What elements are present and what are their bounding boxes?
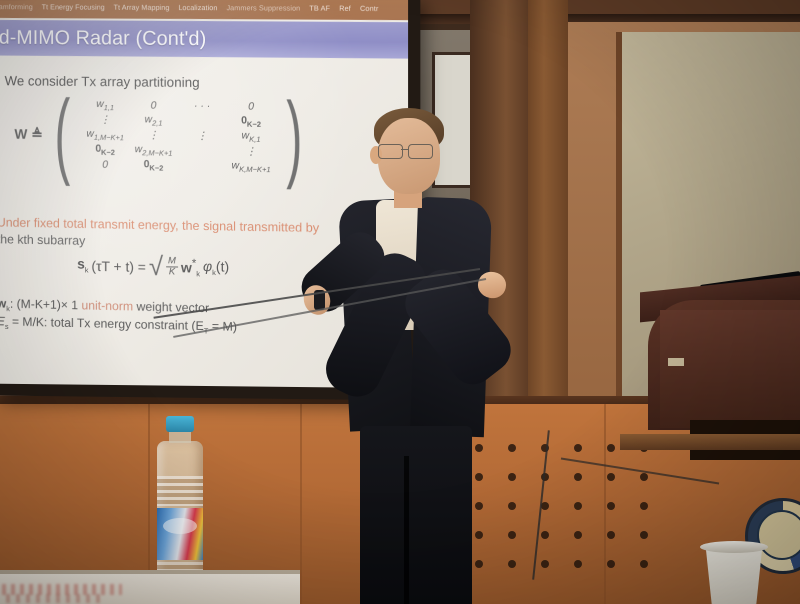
matrix-cell-8: w1,M−K+1 (86, 128, 124, 142)
eq-args: (τT + t) = (91, 258, 145, 275)
presenter (330, 100, 510, 604)
matrix-cell-2: · · · (194, 100, 210, 112)
bottle-cap (166, 416, 194, 432)
slide-title-band: d-MIMO Radar (Cont'd) (0, 20, 408, 59)
panel-perforation (541, 560, 549, 568)
matrix-cell-9: ⋮ (148, 130, 158, 142)
panel-perforation (574, 502, 582, 510)
panel-perforation (607, 560, 615, 568)
navbar-item-4[interactable]: Jammers Suppression (226, 3, 300, 12)
paper-cup (703, 545, 765, 604)
navbar-item-7[interactable]: Contr (360, 3, 378, 12)
panel-perforation (607, 444, 615, 452)
panel-perforation (640, 531, 648, 539)
navbar-item-2[interactable]: Tt Array Mapping (114, 2, 170, 11)
lecture-hall-photo: amformingTt Energy FocusingTt Array Mapp… (0, 0, 800, 604)
eq-fraction: M K (166, 257, 178, 278)
slide-title: d-MIMO Radar (Cont'd) (0, 26, 206, 50)
matrix-cell-1: 0 (151, 100, 157, 112)
navbar-item-0[interactable]: amforming (0, 2, 33, 11)
matrix-equation: W ≜ ( w1,10· · ·0⋮w2,10K−2w1,M−K+1⋮⋮wK,1… (14, 95, 310, 177)
bullet1-highlight: unit-norm (81, 298, 133, 313)
matrix-cell-12: 0K−2 (95, 143, 115, 157)
water-bottle (152, 416, 208, 594)
matrix-cell-16: 0 (102, 159, 108, 171)
panel-perforation (574, 560, 582, 568)
panel-perforation (541, 531, 549, 539)
wainscot-seam (300, 404, 302, 604)
signal-equation: sk (τT + t) = √ M K w*k φk(t) (77, 255, 229, 279)
blurred-red-text-2 (6, 594, 102, 603)
wall-shelf (620, 434, 800, 450)
bottle-ribs-upper (157, 476, 203, 506)
paper-cup-rim (700, 541, 768, 553)
eq-radical-icon: √ (149, 259, 163, 275)
slide-navbar: amformingTt Energy FocusingTt Array Mapp… (0, 0, 408, 20)
matrix-cell-7: 0K−2 (241, 115, 261, 129)
matrix-cell-13: w2,M−K+1 (135, 143, 173, 158)
matrix-relation: ≜ (31, 126, 42, 143)
matrix-cell-19: wK,M−K+1 (232, 160, 271, 175)
trousers (360, 426, 472, 604)
navbar-item-3[interactable]: Localization (178, 2, 217, 11)
eq-lhs: sk (77, 256, 88, 275)
trouser-seam (404, 456, 409, 604)
matrix-cell-5: w2,1 (145, 114, 163, 128)
navbar-item-1[interactable]: Tt Energy Focusing (42, 2, 105, 11)
navbar-item-6[interactable]: Ref (339, 3, 351, 12)
panel-perforation (640, 560, 648, 568)
panel-perforation (574, 444, 582, 452)
eyeglasses-icon (378, 144, 438, 157)
bullet-energy-constraint: Es = M/K: total Tx energy constraint (ET… (0, 314, 237, 336)
podium-name-plate (668, 358, 684, 366)
matrix-cell-4: ⋮ (100, 114, 110, 126)
navbar-item-5[interactable]: TB AF (309, 3, 330, 12)
matrix-lhs-symbol: W (14, 126, 27, 142)
matrix-cell-10: ⋮ (197, 130, 207, 142)
bottle-neck (169, 431, 191, 443)
matrix-cell-17: 0K−2 (144, 159, 164, 173)
matrix-cell-0: w1,1 (96, 98, 114, 112)
panel-perforation (607, 473, 615, 481)
window-mullion (616, 32, 622, 432)
eq-weight-term: w*k (181, 257, 200, 279)
emblem-inner-disc (757, 510, 800, 560)
panel-perforation (640, 502, 648, 510)
matrix-cell-15: ⋮ (246, 146, 257, 158)
bullet1-post: weight vector (133, 300, 209, 316)
bullet2-post: = M/K: total Tx energy constraint (E (9, 315, 204, 333)
panel-perforation (574, 473, 582, 481)
slide-highlight-line: Under fixed total transmit energy, the s… (0, 216, 319, 236)
eq-frac-denominator: K (169, 268, 175, 278)
bullet1-mid: : (M-K+1)× 1 (10, 297, 82, 312)
eq-waveform-term: φk(t) (203, 258, 229, 277)
matrix-cell-3: 0 (248, 101, 254, 113)
slide-lead-text: We consider Tx array partitioning (5, 73, 200, 90)
bottle-label (157, 508, 203, 560)
podium-front-panel (660, 310, 800, 428)
slide-highlight-line2: the kth subarray (0, 232, 85, 247)
panel-perforation (607, 502, 615, 510)
panel-perforation (640, 473, 648, 481)
matrix-cell-11: wK,1 (242, 130, 261, 144)
panel-perforation (574, 531, 582, 539)
panel-perforation (607, 531, 615, 539)
matrix-grid: w1,10· · ·0⋮w2,10K−2w1,M−K+1⋮⋮wK,10K−2w2… (82, 96, 275, 177)
